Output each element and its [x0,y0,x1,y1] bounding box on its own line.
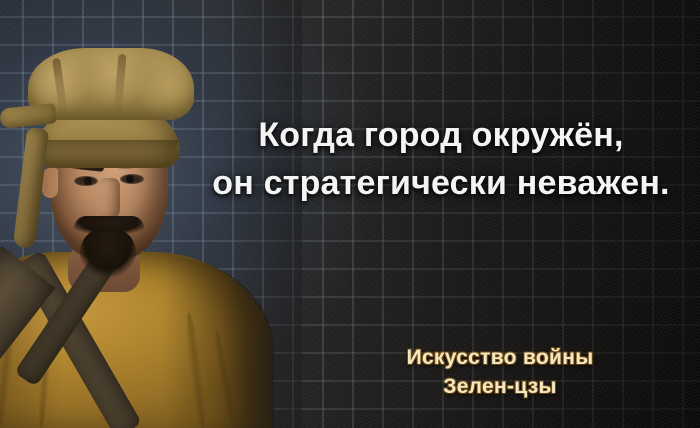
ear [42,168,58,198]
quote-line-1: Когда город окружён, [182,118,700,152]
figure-portrait [0,0,284,428]
beard [80,228,136,284]
quote-line-2: он стратегически неважен. [182,166,700,200]
nose [98,178,120,220]
pupil-right [126,175,134,183]
attribution-author: Зелен-цзы [300,376,700,397]
headwrap-rim-shadow [38,140,178,158]
quote-card: Когда город окружён, он стратегически не… [0,0,700,428]
attribution-work-title: Искусство войны [300,347,700,368]
pupil-left [84,177,92,185]
